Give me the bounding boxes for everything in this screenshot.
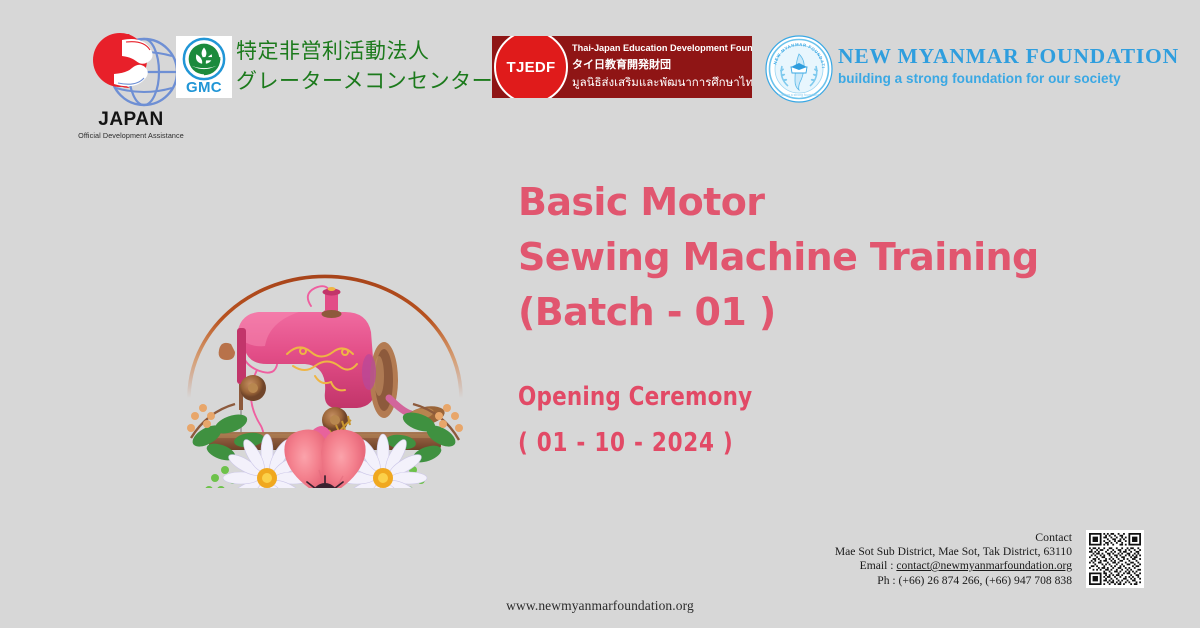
tjedf-text-line1: Thai-Japan Education Development Foundat… [572, 41, 750, 56]
tjedf-logo-word: TJEDF [496, 59, 566, 76]
poster-canvas: JAPAN Official Development Assistance GM… [0, 0, 1200, 628]
new-myanmar-foundation-seal-icon: NEW MYANMAR FOUNDATION building a strong… [764, 34, 834, 104]
title-line-2: Sewing Machine Training [518, 230, 1158, 285]
contact-phone: Ph : (+66) 26 874 266, (+66) 947 708 838 [835, 574, 1072, 589]
contact-email-row: Email : contact@newmyanmarfoundation.org [835, 559, 1072, 574]
contact-email-link[interactable]: contact@newmyanmarfoundation.org [896, 559, 1072, 572]
sewing-machine-floral-illustration [175, 148, 475, 488]
japan-logo-subtitle: Official Development Assistance [72, 131, 190, 140]
contact-email-label: Email : [860, 559, 897, 572]
tjedf-logo: TJEDF Thai-Japan Education Development F… [492, 36, 752, 98]
qr-code-icon [1089, 533, 1141, 585]
ceremony-date: ( 01 - 10 - 2024 ) [518, 419, 1033, 467]
gmc-text-line1: 特定非営利活動法人 [236, 36, 493, 66]
ceremony-label: Opening Ceremony [518, 375, 1033, 419]
japan-oda-globe-hands-icon [78, 26, 184, 110]
tjedf-text-line2: タイ日教育開発財団 [572, 56, 750, 73]
gmc-leaf-circle-icon [176, 36, 232, 82]
title-line-1: Basic Motor [518, 175, 1158, 230]
japan-oda-logo: JAPAN Official Development Assistance [72, 26, 190, 138]
gmc-logo-mark: GMC [176, 36, 232, 98]
tjedf-circle-badge: TJEDF [494, 36, 568, 98]
website-footer[interactable]: www.newmyanmarfoundation.org [0, 598, 1200, 614]
nmf-logo-title: NEW MYANMAR FOUNDATION [838, 44, 1179, 69]
gmc-text-line2: グレーターメコンセンター [236, 66, 493, 96]
nmf-logo-text: NEW MYANMAR FOUNDATION building a strong… [838, 44, 1179, 88]
title-line-3: (Batch - 01 ) [518, 285, 1158, 340]
svg-text:building a strong foundation: building a strong foundation [778, 93, 820, 97]
contact-address: Mae Sot Sub District, Mae Sot, Tak Distr… [835, 545, 1072, 560]
ceremony-block: Opening Ceremony ( 01 - 10 - 2024 ) [518, 375, 1078, 467]
qr-code[interactable] [1086, 530, 1144, 588]
tjedf-text-line3: มูลนิธิส่งเสริมและพัฒนาการศึกษาไทย-ญี่ปุ… [572, 73, 750, 91]
contact-block: Contact Mae Sot Sub District, Mae Sot, T… [835, 530, 1072, 588]
nmf-logo-tagline: building a strong foundation for our soc… [838, 69, 1179, 88]
tjedf-text-block: Thai-Japan Education Development Foundat… [572, 41, 750, 91]
japan-logo-word: JAPAN [72, 110, 190, 130]
partner-logo-bar: JAPAN Official Development Assistance GM… [0, 0, 1200, 140]
event-title: Basic Motor Sewing Machine Training (Bat… [518, 175, 1158, 340]
gmc-logo-word: GMC [176, 79, 232, 96]
contact-heading: Contact [835, 530, 1072, 545]
gmc-logo-text: 特定非営利活動法人 グレーターメコンセンター [236, 36, 493, 96]
